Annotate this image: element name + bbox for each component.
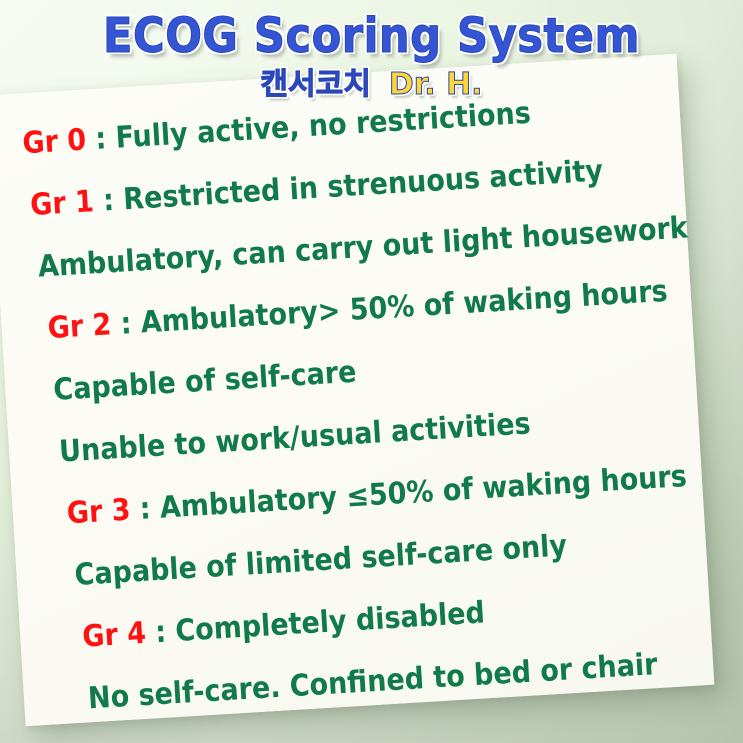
ecog-detail-line: Capable of limited self-care only (74, 531, 568, 591)
ecog-line-list: Gr 0 : Fully active, no restrictionsGr 1… (0, 54, 714, 726)
grade-label: Gr 0 (22, 123, 88, 162)
poster-canvas: ECOG Scoring System 캔서코치Dr. H. Gr 0 : Fu… (0, 0, 743, 743)
line-text: Capable of self-care (52, 355, 357, 408)
grade-separator: : (85, 121, 117, 158)
ecog-detail-line: Unable to work/usual activities (58, 409, 531, 467)
grade-label: Gr 3 (66, 493, 132, 532)
line-text: Ambulatory> 50% of waking hours (140, 274, 669, 341)
grade-label: Gr 4 (81, 616, 147, 655)
ecog-detail-line: Ambulatory, can carry out light housewor… (37, 213, 688, 282)
ecog-grade-line: Gr 1 : Restricted in strenuous activity (29, 156, 603, 220)
ecog-detail-line: No self-care. Confined to bed or chair (87, 650, 658, 714)
ecog-grade-line: Gr 4 : Completely disabled (82, 598, 486, 652)
line-text: No self-care. Confined to bed or chair (87, 647, 658, 716)
ecog-grade-line: Gr 0 : Fully active, no restrictions (22, 99, 532, 160)
grade-separator: : (93, 182, 125, 219)
grade-separator: : (145, 614, 177, 651)
line-text: Ambulatory, can carry out light housewor… (37, 210, 689, 284)
grade-label: Gr 1 (29, 184, 95, 223)
line-text: Unable to work/usual activities (58, 406, 531, 469)
line-text: Capable of limited self-care only (74, 528, 568, 593)
ecog-grade-line: Gr 3 : Ambulatory ≤50% of waking hours (66, 462, 688, 529)
ecog-grade-line: Gr 2 : Ambulatory> 50% of waking hours (47, 277, 669, 344)
page-title: ECOG Scoring System (0, 12, 743, 60)
line-text: Fully active, no restrictions (115, 96, 532, 156)
line-text: Restricted in strenuous activity (122, 153, 604, 217)
ecog-detail-line: Capable of self-care (53, 358, 358, 406)
line-text: Ambulatory ≤50% of waking hours (159, 459, 688, 526)
grade-separator: : (129, 491, 161, 528)
grade-separator: : (110, 306, 142, 343)
line-text: Completely disabled (174, 595, 485, 649)
grade-label: Gr 2 (47, 307, 113, 346)
